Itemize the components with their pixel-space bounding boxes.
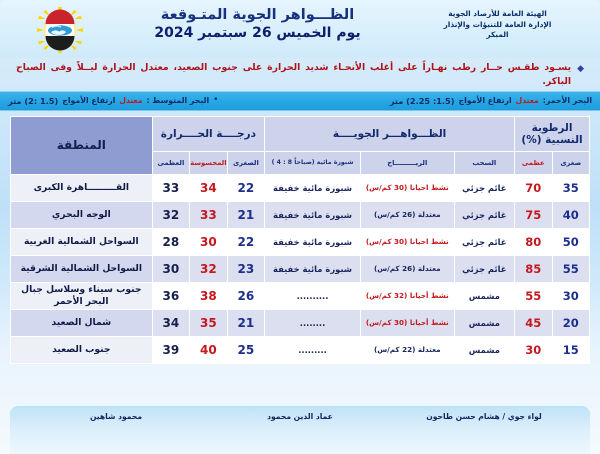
cell-region: السواحل الشمالية الغربية [11,228,153,255]
cell-wind: معتدلة (26 كم/س) [360,201,454,228]
signature-subtitle-3 [24,431,208,439]
table-row: 4075غائم جزئيمعتدلة (26 كم/س)شبورة مائية… [11,201,590,228]
weather-forecast-poster: الهيئة العامة للأرصاد الجوية الإدارة الع… [0,0,600,454]
page-title: الظـــواهر الجوية المتـوقعة [110,7,405,23]
cell-humidity-max: 85 [515,255,552,282]
subheader-temp-feels: المحسوسة [190,151,227,174]
cell-temp-max: 36 [152,282,190,309]
subheader-humidity-max: عظمى [515,151,552,174]
mediterranean-conditions: • البحر المتوسط : معتدل ارتفاع الأمواج (… [8,96,300,106]
signature-subtitle-row [10,421,590,439]
forecast-table: الرطوبة النسبية (%) الظـــواهـــر الجويـ… [10,116,590,364]
forecast-table-container: الرطوبة النسبية (%) الظـــواهـــر الجويـ… [0,111,600,364]
cell-cloud: غائم جزئي [454,228,514,255]
red-sea-conditions: البحر الأحمر: معتدل ارتفاع الأمواج (1.5:… [300,96,592,106]
header-humidity-group: الرطوبة النسبية (%) [515,116,590,151]
mediterranean-label: البحر المتوسط : [146,96,209,105]
cell-temp-feels: 35 [190,309,227,336]
signature-3: محمود شاهين [24,412,208,421]
bullet-dot-icon: • [213,96,218,105]
cell-cloud: مشمس [454,309,514,336]
cell-temp-max: 33 [152,174,190,201]
cell-humidity-max: 55 [515,282,552,309]
cell-temp-feels: 40 [190,336,227,363]
logo-container [10,4,110,54]
subheader-humidity-min: صغرى [552,151,589,174]
table-row: 1530مشمسمعتدلة (22 كم/س).........254039ج… [11,336,590,363]
cell-mist: شبورة مائية خفيفة [265,255,361,282]
cell-humidity-max: 70 [515,174,552,201]
table-row: 3055مشمسنشط أحيانا (32 كم/س)..........26… [11,282,590,309]
header-temperature-group: درجــــة الحــــرارة [152,116,264,151]
table-row: 3570غائم جزئينشط احيانا (30 كم/س)شبورة م… [11,174,590,201]
cell-region: الوجه البحري [11,201,153,228]
signature-1: لواء جوي / هشام حسن طاحون [392,412,576,421]
subheader-cloud: السحب [454,151,514,174]
cell-temp-min: 21 [227,201,264,228]
egypt-meteorological-authority-logo-icon [34,6,86,54]
red-sea-waves-label: ارتفاع الأمواج [459,96,512,105]
cell-humidity-max: 45 [515,309,552,336]
cell-mist: .......... [265,282,361,309]
forecast-table-body: 3570غائم جزئينشط احيانا (30 كم/س)شبورة م… [11,174,590,363]
title-block: الظـــواهر الجوية المتـوقعة يوم الخميس 2… [110,4,405,41]
cell-temp-max: 32 [152,201,190,228]
cell-cloud: مشمس [454,282,514,309]
cell-wind: نشط احيانا (30 كم/س) [360,228,454,255]
table-group-header-row: الرطوبة النسبية (%) الظـــواهـــر الجويـ… [11,116,590,151]
cell-wind: نشط احيانا (30 كم/س) [360,174,454,201]
cell-humidity-min: 35 [552,174,589,201]
cell-region: القـــــــــاهرة الكبرى [11,174,153,201]
cell-humidity-min: 30 [552,282,589,309]
cell-temp-min: 22 [227,228,264,255]
mediterranean-state: معتدل [119,96,142,105]
poster-footer: لواء جوي / هشام حسن طاحون عماد الدين محم… [10,406,590,454]
cell-mist: شبورة مائية خفيفة [265,174,361,201]
header-region: المنطقة [11,116,153,174]
cell-region: جنوب سيناء وسلاسل جبال البحر الأحمر [11,282,153,309]
subheader-mist: شبورة مائية (صباحاً 8 : 4 ) [265,151,361,174]
subheader-temp-max: العظمى [152,151,190,174]
cell-temp-feels: 33 [190,201,227,228]
diamond-bullet-icon: ◆ [577,61,584,75]
red-sea-wave-height: (1.5: 2.25) متر [390,96,455,106]
cell-mist: ........ [265,309,361,336]
cell-temp-max: 39 [152,336,190,363]
signature-subtitle-2 [208,431,392,439]
cell-humidity-max: 80 [515,228,552,255]
header-phenomena-group: الظـــواهـــر الجويــــة [265,116,515,151]
sea-conditions-strip: البحر الأحمر: معتدل ارتفاع الأمواج (1.5:… [0,91,600,111]
table-row: 5080غائم جزئينشط احيانا (30 كم/س)شبورة م… [11,228,590,255]
cell-cloud: مشمس [454,336,514,363]
cell-humidity-max: 30 [515,336,552,363]
cell-temp-min: 23 [227,255,264,282]
cell-wind: معتدلة (22 كم/س) [360,336,454,363]
signature-2: عماد الدين محمود [208,412,392,421]
cell-temp-feels: 30 [190,228,227,255]
table-row: 5585غائم جزئيمعتدلة (26 كم/س)شبورة مائية… [11,255,590,282]
forecast-summary: ◆ يسـود طقـس حــار رطب نهـاراً على أغلب … [0,58,600,91]
cell-cloud: غائم جزئي [454,255,514,282]
cell-region: السواحل الشمالية الشرقية [11,255,153,282]
signature-row: لواء جوي / هشام حسن طاحون عماد الدين محم… [10,406,590,421]
cell-temp-min: 26 [227,282,264,309]
cell-temp-min: 21 [227,309,264,336]
cell-temp-max: 30 [152,255,190,282]
cell-temp-min: 25 [227,336,264,363]
cell-humidity-min: 20 [552,309,589,336]
table-row: 2045مشمسنشط أحيانا (30 كم/س)........2135… [11,309,590,336]
cell-temp-feels: 38 [190,282,227,309]
red-sea-label: البحر الأحمر: [543,96,592,105]
cell-cloud: غائم جزئي [454,201,514,228]
org-line-3: المبكر [405,30,590,41]
poster-header: الهيئة العامة للأرصاد الجوية الإدارة الع… [0,0,600,58]
org-line-2: الإدارة العامة للتنبؤات والإنذار [405,20,590,31]
cell-temp-feels: 32 [190,255,227,282]
subheader-wind: الريـــــــــاح [360,151,454,174]
cell-temp-max: 28 [152,228,190,255]
cell-humidity-min: 50 [552,228,589,255]
cell-wind: نشط أحيانا (32 كم/س) [360,282,454,309]
cell-wind: نشط أحيانا (30 كم/س) [360,309,454,336]
forecast-table-head: الرطوبة النسبية (%) الظـــواهـــر الجويـ… [11,116,590,174]
cell-mist: ......... [265,336,361,363]
red-sea-state: معتدل [516,96,539,105]
cell-region: شمال الصعيد [11,309,153,336]
forecast-date: يوم الخميس 26 سبتمبر 2024 [110,25,405,41]
cell-temp-max: 34 [152,309,190,336]
subheader-temp-min: الصغرى [227,151,264,174]
cell-humidity-min: 40 [552,201,589,228]
org-line-1: الهيئة العامة للأرصاد الجوية [405,9,590,20]
mediterranean-wave-height: (1.5 :2) متر [8,96,58,106]
cell-humidity-min: 15 [552,336,589,363]
cell-region: جنوب الصعيد [11,336,153,363]
cell-temp-min: 22 [227,174,264,201]
mediterranean-waves-label: ارتفاع الأمواج [62,96,115,105]
cell-temp-feels: 34 [190,174,227,201]
cell-wind: معتدلة (26 كم/س) [360,255,454,282]
organization-block: الهيئة العامة للأرصاد الجوية الإدارة الع… [405,4,590,41]
signature-subtitle-1 [392,431,576,439]
cell-humidity-max: 75 [515,201,552,228]
cell-mist: شبورة مائية خفيفة [265,228,361,255]
cell-cloud: غائم جزئي [454,174,514,201]
cell-mist: شبورة مائية خفيفة [265,201,361,228]
forecast-summary-text: يسـود طقـس حــار رطب نهـاراً على أغلب ال… [16,61,571,89]
cell-humidity-min: 55 [552,255,589,282]
